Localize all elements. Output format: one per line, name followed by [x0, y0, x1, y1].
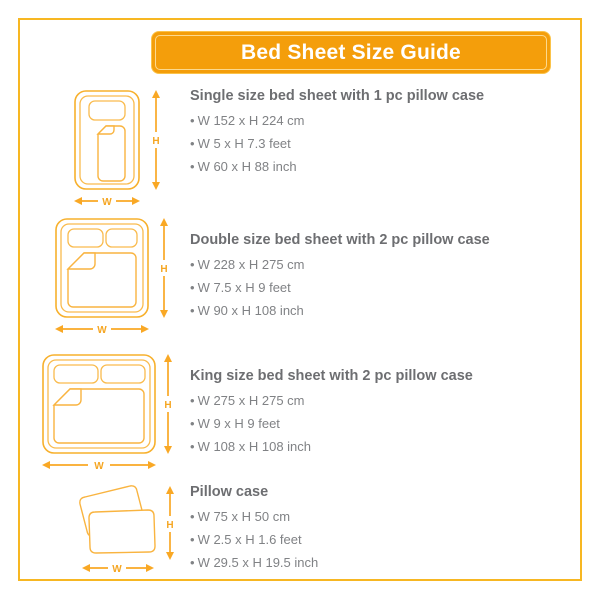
bullet-item: •W 108 x H 108 inch — [190, 439, 473, 454]
double-bed-diagram: H W — [18, 216, 188, 338]
bullet-dot: • — [190, 509, 195, 524]
sheet-folded-corner — [54, 389, 81, 405]
pillow-1 — [54, 365, 98, 383]
bullet-item: •W 275 x H 275 cm — [190, 393, 473, 408]
bullet-item: •W 60 x H 88 inch — [190, 159, 484, 174]
section-single: H W Single size bed sheet with 1 pc pill… — [18, 88, 582, 208]
bullet-text: W 275 x H 275 cm — [198, 393, 305, 408]
bullet-dot: • — [190, 280, 195, 295]
bullet-text: W 7.5 x H 9 feet — [198, 280, 291, 295]
pillow-text-block: Pillow case •W 75 x H 50 cm •W 2.5 x H 1… — [190, 484, 318, 578]
page-title: Bed Sheet Size Guide — [241, 41, 461, 65]
bullet-item: •W 2.5 x H 1.6 feet — [190, 532, 318, 547]
pillow-case-diagram: H W — [18, 470, 188, 580]
bullet-item: •W 152 x H 224 cm — [190, 113, 484, 128]
width-label: W — [97, 325, 107, 336]
bullet-text: W 228 x H 275 cm — [198, 257, 305, 272]
height-dimension-arrow: H — [166, 486, 174, 560]
height-label: H — [160, 264, 167, 275]
section-king: H W King size bed sheet with 2 pc pillow… — [18, 352, 582, 474]
single-text-block: Single size bed sheet with 1 pc pillow c… — [190, 88, 484, 182]
single-bed-diagram: H W — [18, 88, 188, 208]
bullet-item: •W 228 x H 275 cm — [190, 257, 490, 272]
king-bed-diagram: H W — [18, 352, 188, 474]
sheet-folded-corner — [68, 253, 95, 269]
section-title: King size bed sheet with 2 pc pillow cas… — [190, 368, 473, 384]
height-dimension-arrow: H — [160, 218, 168, 318]
bullet-item: •W 90 x H 108 inch — [190, 303, 490, 318]
title-banner: Bed Sheet Size Guide — [152, 32, 550, 73]
width-dimension-arrow: W — [55, 325, 149, 336]
pillow-1 — [89, 101, 125, 120]
pillow-front — [89, 510, 155, 553]
bullet-dot: • — [190, 393, 195, 408]
bullet-text: W 90 x H 108 inch — [198, 303, 304, 318]
bullet-item: •W 9 x H 9 feet — [190, 416, 473, 431]
bullet-item: •W 29.5 x H 19.5 inch — [190, 555, 318, 570]
height-dimension-arrow: H — [152, 90, 160, 190]
bullet-dot: • — [190, 159, 195, 174]
bullet-text: W 2.5 x H 1.6 feet — [198, 532, 302, 547]
bullet-dot: • — [190, 555, 195, 570]
king-text-block: King size bed sheet with 2 pc pillow cas… — [190, 368, 473, 462]
pillow-1 — [68, 229, 103, 247]
width-label: W — [112, 564, 122, 575]
section-double: H W Double size bed sheet with 2 pc pill… — [18, 216, 582, 338]
height-label: H — [164, 400, 171, 411]
bullet-dot: • — [190, 416, 195, 431]
height-label: H — [166, 520, 173, 531]
bullet-text: W 29.5 x H 19.5 inch — [198, 555, 319, 570]
bullet-dot: • — [190, 532, 195, 547]
bullet-dot: • — [190, 113, 195, 128]
sheet-folded-corner — [98, 126, 114, 134]
section-title: Pillow case — [190, 484, 318, 500]
bullet-text: W 108 x H 108 inch — [198, 439, 311, 454]
bullet-dot: • — [190, 257, 195, 272]
bullet-text: W 60 x H 88 inch — [198, 159, 297, 174]
height-label: H — [152, 136, 159, 147]
bullet-item: •W 75 x H 50 cm — [190, 509, 318, 524]
pillow-2 — [101, 365, 145, 383]
pillow-2 — [106, 229, 137, 247]
bullet-text: W 5 x H 7.3 feet — [198, 136, 291, 151]
bullet-text: W 9 x H 9 feet — [198, 416, 280, 431]
bullet-dot: • — [190, 303, 195, 318]
bullet-item: •W 5 x H 7.3 feet — [190, 136, 484, 151]
bullet-dot: • — [190, 136, 195, 151]
section-title: Double size bed sheet with 2 pc pillow c… — [190, 232, 490, 248]
width-label: W — [102, 197, 112, 208]
section-title: Single size bed sheet with 1 pc pillow c… — [190, 88, 484, 104]
width-dimension-arrow: W — [74, 197, 140, 208]
bullet-dot: • — [190, 439, 195, 454]
double-text-block: Double size bed sheet with 2 pc pillow c… — [190, 232, 490, 326]
bullet-text: W 152 x H 224 cm — [198, 113, 305, 128]
width-dimension-arrow: W — [82, 564, 154, 575]
bullet-item: •W 7.5 x H 9 feet — [190, 280, 490, 295]
section-pillow-case: H W Pillow case •W 75 x H 50 cm •W 2.5 x… — [18, 470, 582, 580]
bullet-text: W 75 x H 50 cm — [198, 509, 290, 524]
height-dimension-arrow: H — [164, 354, 172, 454]
